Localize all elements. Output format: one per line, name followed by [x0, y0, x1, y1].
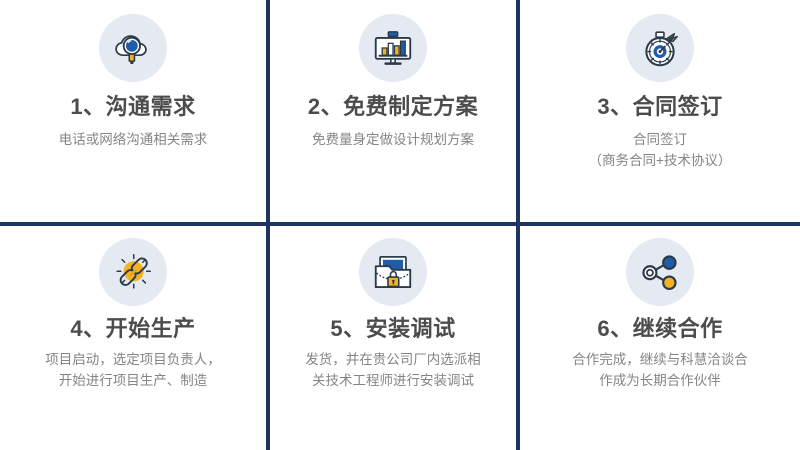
desc-line: 关技术工程师进行安装调试: [305, 371, 481, 392]
step-description: 项目启动，选定项目负责人， 开始进行项目生产、制造: [35, 350, 231, 392]
step-card-5[interactable]: 5、安装调试 发货，并在贵公司厂内选派相 关技术工程师进行安装调试: [270, 226, 516, 450]
desc-line: （商务合同+技术协议）: [589, 151, 732, 172]
step-title: 6、继续合作: [597, 316, 722, 341]
cloud-search-icon: [99, 14, 167, 82]
step-card-1[interactable]: 1、沟通需求 电话或网络沟通相关需求: [0, 0, 266, 222]
step-title: 3、合同签订: [597, 94, 722, 119]
desc-line: 电话或网络沟通相关需求: [59, 130, 208, 151]
step-description: 合作完成，继续与科慧洽谈合 作成为长期合作伙伴: [562, 350, 758, 392]
step-description: 合同签订 （商务合同+技术协议）: [579, 130, 742, 172]
step-title: 1、沟通需求: [70, 94, 195, 119]
step-title: 4、开始生产: [70, 316, 195, 341]
step-description: 电话或网络沟通相关需求: [49, 130, 218, 151]
desc-line: 开始进行项目生产、制造: [45, 371, 221, 392]
desc-line: 作成为长期合作伙伴: [572, 371, 748, 392]
desc-line: 合作完成，继续与科慧洽谈合: [572, 350, 748, 371]
step-card-2[interactable]: 2、免费制定方案 免费量身定做设计规划方案: [270, 0, 516, 222]
share-network-icon: [626, 238, 694, 306]
step-card-4[interactable]: 4、开始生产 项目启动，选定项目负责人， 开始进行项目生产、制造: [0, 226, 266, 450]
chain-link-shine-icon: [99, 238, 167, 306]
process-steps-grid: 1、沟通需求 电话或网络沟通相关需求: [0, 0, 800, 450]
step-card-3[interactable]: 3、合同签订 合同签订 （商务合同+技术协议）: [520, 0, 800, 222]
desc-line: 发货，并在贵公司厂内选派相: [305, 350, 481, 371]
step-description: 发货，并在贵公司厂内选派相 关技术工程师进行安装调试: [295, 350, 491, 392]
desc-line: 免费量身定做设计规划方案: [312, 130, 474, 151]
step-title: 5、安装调试: [330, 316, 455, 341]
step-card-6[interactable]: 6、继续合作 合作完成，继续与科慧洽谈合 作成为长期合作伙伴: [520, 226, 800, 450]
stopwatch-target-arrow-icon: [626, 14, 694, 82]
folder-lock-icon: [359, 238, 427, 306]
monitor-bar-chart-icon: [359, 14, 427, 82]
step-title: 2、免费制定方案: [308, 94, 478, 119]
step-description: 免费量身定做设计规划方案: [302, 130, 484, 151]
desc-line: 项目启动，选定项目负责人，: [45, 350, 221, 371]
desc-line: 合同签订: [589, 130, 732, 151]
